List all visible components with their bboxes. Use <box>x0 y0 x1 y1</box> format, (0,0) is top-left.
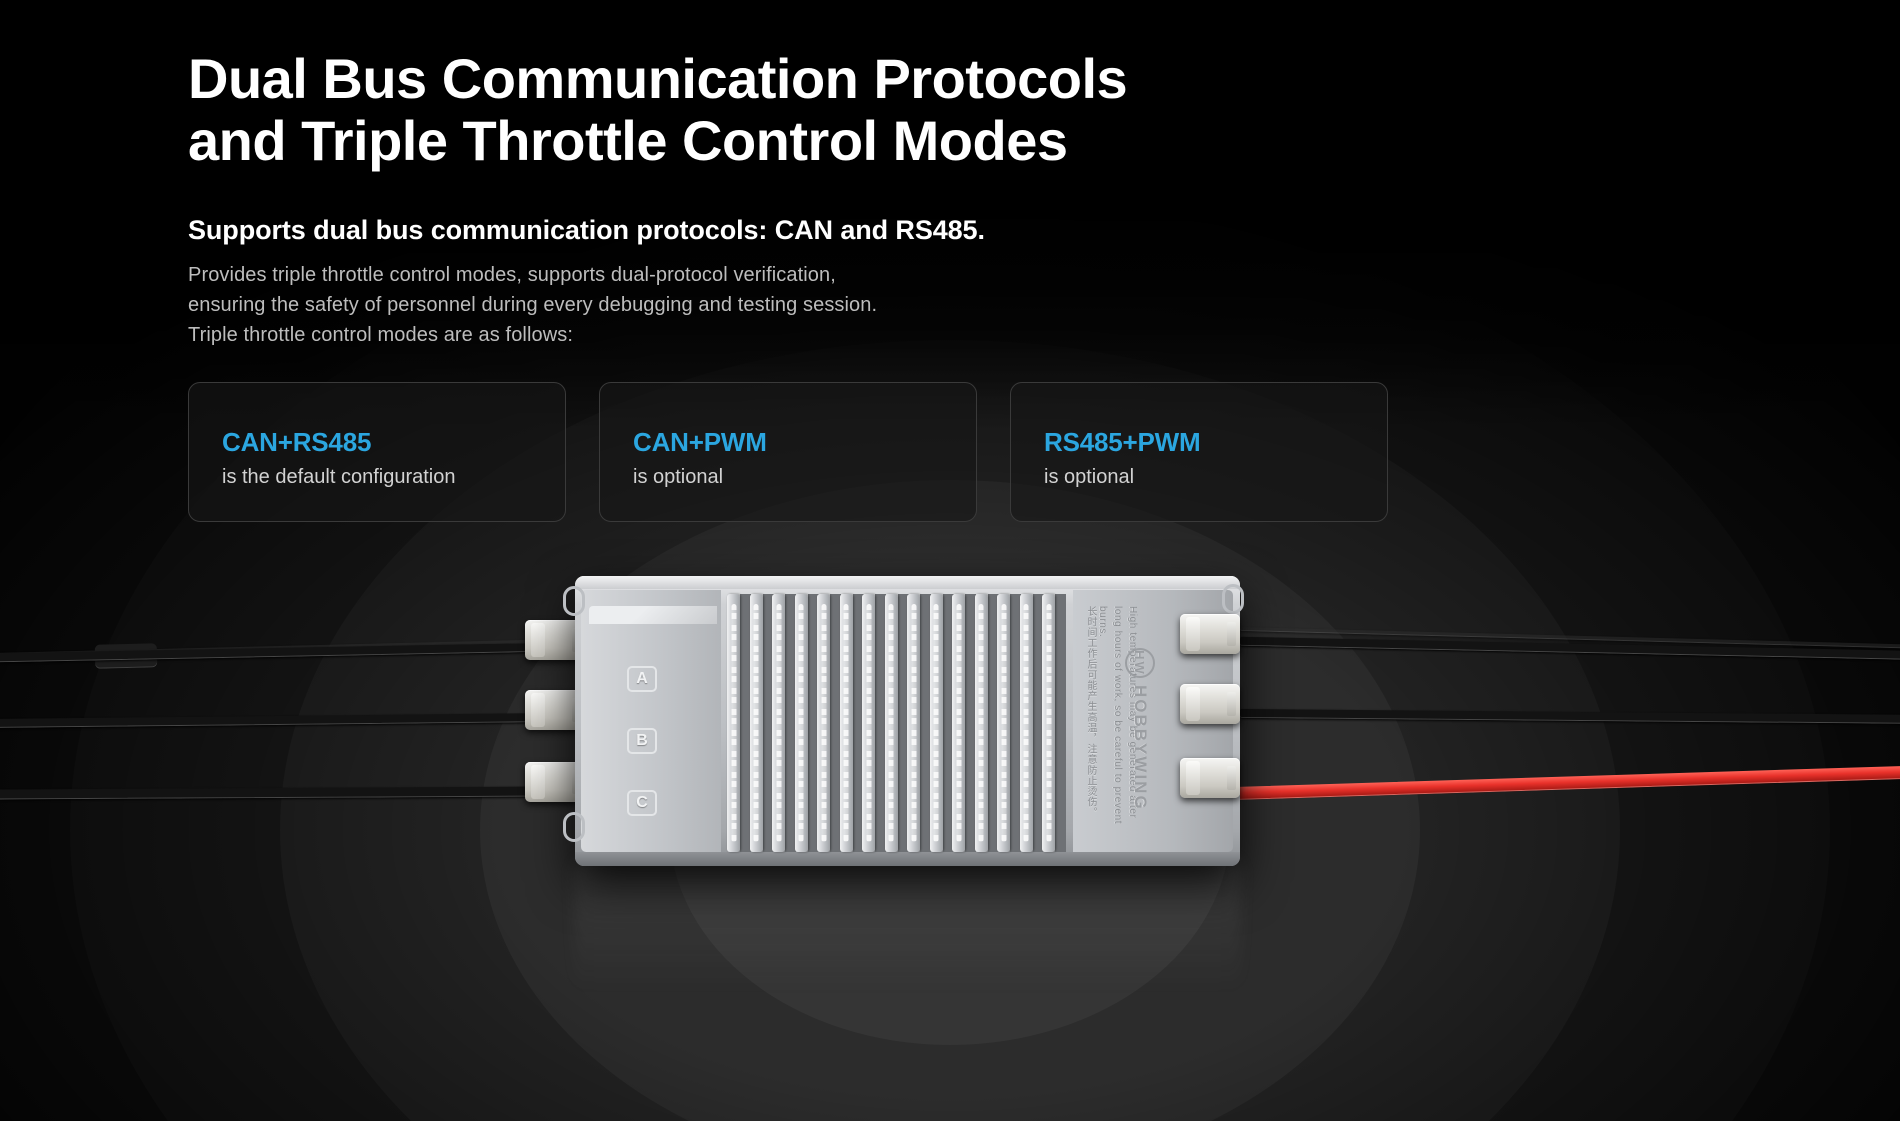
phase-label-c: C <box>627 790 657 816</box>
card-subtitle: is optional <box>1044 466 1387 489</box>
mount-ear-bottom-left <box>563 812 585 842</box>
heatsink-fin <box>885 594 898 852</box>
heatsink-fin <box>862 594 875 852</box>
device-top-chamfer <box>575 576 1240 589</box>
mount-ear-top-left <box>563 586 585 616</box>
phase-label-a: A <box>627 666 657 692</box>
hobbywing-wordmark: HOBBYWING <box>1130 685 1150 811</box>
esc-device-body: A B C 长时间工作后可能产生高温，注意防止烫伤。 High temperat… <box>575 576 1240 866</box>
heatsink-fin <box>727 594 740 852</box>
heatsink-fins <box>727 594 1065 852</box>
headline-line-2: and Triple Throttle Control Modes <box>188 110 1318 172</box>
heatsink-fin <box>975 594 988 852</box>
headline-line-1: Dual Bus Communication Protocols <box>188 47 1127 110</box>
hero-section: A B C 长时间工作后可能产生高温，注意防止烫伤。 High temperat… <box>0 0 1900 1121</box>
card-title: CAN+PWM <box>633 427 976 458</box>
product-photo: A B C 长时间工作后可能产生高温，注意防止烫伤。 High temperat… <box>0 560 1900 1020</box>
heatsink-fin <box>840 594 853 852</box>
device-bottom-chamfer <box>575 852 1240 866</box>
device-reflection <box>575 860 1240 990</box>
cable-gland-right-a <box>1180 614 1240 654</box>
cable-left-b <box>0 713 560 728</box>
heatsink-fin <box>817 594 830 852</box>
card-can-pwm[interactable]: CAN+PWM is optional <box>599 382 977 522</box>
cable-right-b <box>1240 709 1900 724</box>
body-line-1: Provides triple throttle control modes, … <box>188 260 1488 290</box>
card-rs485-pwm[interactable]: RS485+PWM is optional <box>1010 382 1388 522</box>
hobbywing-mark-icon: HW <box>1125 648 1155 678</box>
heatsink-fin <box>907 594 920 852</box>
heatsink-fin <box>1020 594 1033 852</box>
hero-content: Dual Bus Communication Protocols and Tri… <box>188 0 1488 522</box>
heatsink-fin <box>795 594 808 852</box>
device-left-endplate: A B C <box>581 590 721 852</box>
body-line-3: Triple throttle control modes are as fol… <box>188 320 1488 350</box>
body-line-2: ensuring the safety of personnel during … <box>188 290 1488 320</box>
mount-ear-top-right <box>1222 584 1244 614</box>
card-subtitle: is optional <box>633 466 976 489</box>
card-subtitle: is the default configuration <box>222 466 565 489</box>
heatsink-fin <box>952 594 965 852</box>
card-title: CAN+RS485 <box>222 427 565 458</box>
heatsink-fin <box>997 594 1010 852</box>
heatsink-fin-gap <box>1055 594 1066 852</box>
heatsink-fin <box>772 594 785 852</box>
card-can-rs485[interactable]: CAN+RS485 is the default configuration <box>188 382 566 522</box>
cable-right-power-red <box>1235 765 1900 800</box>
body-paragraph: Provides triple throttle control modes, … <box>188 260 1488 350</box>
phase-label-b: B <box>627 728 657 754</box>
hobbywing-logo: HW HOBBYWING <box>1125 648 1155 811</box>
heatsink-fin <box>930 594 943 852</box>
cable-gland-right-b <box>1180 684 1240 724</box>
cable-gland-right-c <box>1180 758 1240 798</box>
card-title: RS485+PWM <box>1044 427 1387 458</box>
heatsink-fin <box>1042 594 1055 852</box>
heatsink-fin <box>750 594 763 852</box>
page-title: Dual Bus Communication Protocols and Tri… <box>188 48 1318 171</box>
subheading: Supports dual bus communication protocol… <box>188 215 1488 246</box>
throttle-mode-cards: CAN+RS485 is the default configuration C… <box>188 382 1488 522</box>
cable-right-a <box>1240 637 1900 660</box>
cable-left-c <box>0 787 560 800</box>
device-bevel <box>589 606 717 624</box>
